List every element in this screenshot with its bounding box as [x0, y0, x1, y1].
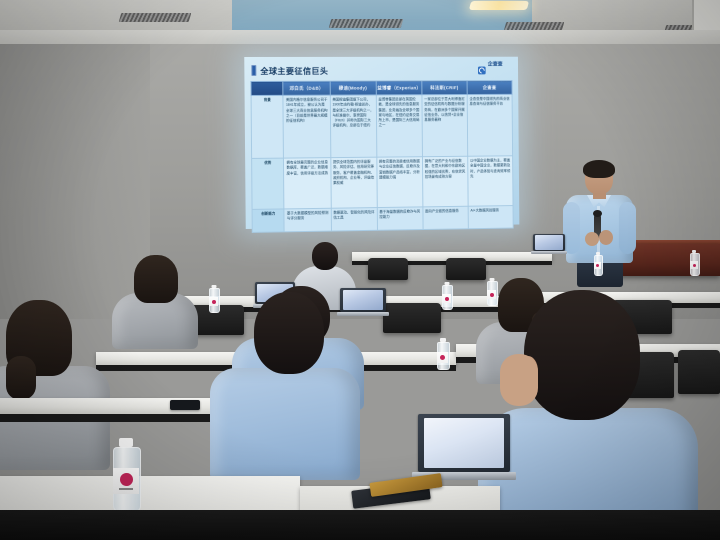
table-corner-header: [251, 81, 283, 95]
cell-advantage-moody: 提供全球范围内的评级服务、风险评估、信用研究等服务，客户覆盖金融机构、政府机构、…: [330, 157, 377, 208]
cell-advantage-crif: 拥有广泛的产业与征信数据，在意大利和中东欧地区较强的区域优势，在信贷风控场景有成…: [422, 156, 468, 207]
presentation-room-photo: 全球主要征信巨头 企查查 QICHACHA 邓白氏（D&B） 穆迪(Moody): [0, 0, 720, 540]
floor: [0, 510, 720, 540]
ceiling-panel-left: [0, 0, 232, 32]
cell-background-moody: 美国穆迪集团旗下公司，1900年由约翰·穆迪创办，是全球三大评级机构之一，与标准…: [330, 95, 377, 158]
cell-innovation-moody: 数据驱动、智能化的风险评估工具: [331, 208, 377, 231]
cell-background-dnb: 美国内格尔信息服务公司于1841年成立，被公认为是全球三大商业信息服务机构之一（…: [283, 95, 330, 158]
water-bottle: [442, 282, 451, 308]
magnifier-icon: [478, 66, 486, 74]
slide-content: 全球主要征信巨头 企查查 QICHACHA 邓白氏（D&B） 穆迪(Moody): [244, 57, 519, 229]
microphone-head-icon: [593, 210, 602, 217]
audience-head: [524, 290, 640, 420]
presenter-arm-left: [563, 202, 580, 254]
audience-member: [478, 290, 698, 540]
brand-name: 企查查: [488, 61, 503, 67]
row-label-background: 背景: [251, 95, 284, 158]
audience-head: [254, 292, 324, 374]
title-accent-bar: [251, 65, 256, 76]
water-bottle: [594, 252, 601, 274]
brand-subtitle: QICHACHA: [488, 81, 509, 84]
brand-logo: 企查查 QICHACHA: [478, 52, 512, 87]
table-row: 优势 拥有全球最完整的企业信息数据库，覆盖广泛，数据维度丰富，信用评级方法成熟 …: [252, 156, 513, 210]
slide-title: 全球主要征信巨头: [260, 64, 328, 76]
column-header-experian: 益博睿（Experian）: [376, 81, 422, 95]
ceiling-light: [469, 1, 529, 10]
cell-background-qcc: 企查查是中国领先的商业信息查询与征信服务平台: [467, 94, 513, 156]
presenter-hand-left: [585, 232, 599, 246]
cell-innovation-qcc: AI+大数据风控服务: [468, 206, 513, 229]
column-header-crif: 科法斯(CRIF): [422, 81, 467, 95]
cell-background-experian: 益博睿集团总部在英国伦敦，是全球领先的信息服务集团，业务遍及全球多个国家与地区，…: [376, 95, 422, 157]
chair: [383, 303, 441, 333]
slide-header: 全球主要征信巨头 企查查 QICHACHA: [251, 63, 512, 78]
table-row: 背景 美国内格尔信息服务公司于1841年成立，被公认为是全球三大商业信息服务机构…: [251, 94, 513, 158]
audience-torso: [210, 368, 360, 480]
audience-member: [210, 292, 360, 460]
laptop: [418, 414, 510, 480]
audience-hand: [500, 354, 538, 406]
chair: [446, 258, 486, 280]
audience-head: [312, 242, 338, 270]
column-header-dnb: 邓白氏（D&B）: [283, 81, 330, 95]
presenter-arm-right: [619, 202, 636, 254]
audience-ponytail: [6, 356, 36, 400]
chair: [368, 258, 408, 280]
water-bottle: [113, 438, 139, 510]
ceiling: [0, 0, 720, 46]
row-label-advantage: 优势: [252, 158, 285, 209]
laptop: [533, 234, 565, 254]
column-header-moody: 穆迪(Moody): [330, 81, 376, 95]
water-bottle: [690, 250, 698, 274]
ceiling-air-vent: [119, 13, 192, 22]
cell-innovation-experian: 基于海量数据的反欺诈与风控能力: [377, 207, 423, 230]
audience-head: [134, 255, 178, 303]
cell-advantage-qcc: 以中国企业数据为主，覆盖全量中国企业，数据更新及时，产品体验与查询效率领先: [468, 156, 513, 206]
table-row: 创新能力 基于大数据模型的风险预测与评分服务 数据驱动、智能化的风险评估工具 基…: [252, 206, 513, 233]
comparison-table: 邓白氏（D&B） 穆迪(Moody) 益博睿（Experian） 科法斯(CRI…: [250, 80, 513, 233]
projection-screen: 全球主要征信巨头 企查查 QICHACHA 邓白氏（D&B） 穆迪(Moody): [244, 57, 519, 229]
ceiling-air-vent: [329, 19, 404, 28]
row-label-innovation: 创新能力: [252, 209, 284, 232]
table-header-row: 邓白氏（D&B） 穆迪(Moody) 益博睿（Experian） 科法斯(CRI…: [251, 81, 512, 96]
audience-member: [0, 300, 110, 450]
audience-member: [112, 255, 198, 335]
presenter-hair: [583, 160, 615, 178]
cell-innovation-crif: 面向产业链的信息服务: [423, 206, 469, 229]
ceiling-corner-fixture: [692, 0, 720, 30]
cell-advantage-experian: 拥有完整的消费者信用数据与企业征信数据，反欺诈及营销数据产品线丰富，分析建模能力…: [377, 157, 423, 208]
water-bottle: [437, 338, 448, 368]
cell-innovation-dnb: 基于大数据模型的风险预测与评分服务: [284, 208, 331, 232]
cell-background-crif: 一家总部位于意大利博洛尼亚的征信机构与数据分析服务商，在欧洲多个国家开展征信业务…: [422, 95, 468, 157]
smartphone: [170, 400, 200, 410]
presenter-hand-right: [599, 230, 613, 245]
cell-advantage-dnb: 拥有全球最完整的企业信息数据库，覆盖广泛，数据维度丰富，信用评级方法成熟: [284, 158, 331, 209]
